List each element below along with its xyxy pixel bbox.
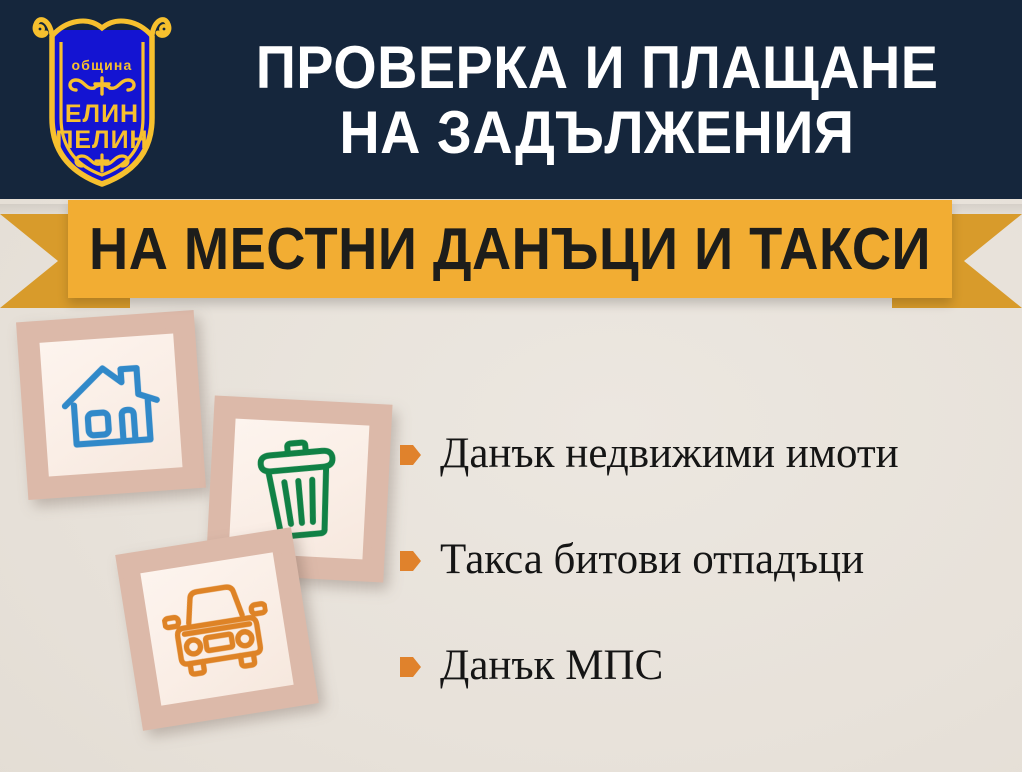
page-title-line-1: ПРОВЕРКА И ПЛАЩАНЕ: [256, 39, 939, 98]
list-item-label: Такса битови отпадъци: [440, 538, 864, 581]
arrow-bullet-icon: [400, 442, 422, 468]
svg-text:община: община: [71, 57, 132, 73]
house-icon: [56, 354, 166, 455]
list-item-label: Данък МПС: [440, 644, 663, 687]
svg-text:ПЕЛИН: ПЕЛИН: [55, 126, 148, 154]
municipality-logo: община ЕЛИН ПЕЛИН: [26, 8, 178, 190]
svg-text:ЕЛИН: ЕЛИН: [65, 100, 139, 128]
stamp-card-car: [115, 527, 319, 731]
ribbon-label: НА МЕСТНИ ДАНЪЦИ И ТАКСИ: [103, 200, 916, 298]
list-item[interactable]: Такса битови отпадъци: [400, 531, 1010, 587]
stamp-card-house: [16, 310, 206, 500]
car-icon: [157, 575, 276, 682]
poster-canvas: НА МЕСТНИ ДАНЪЦИ И ТАКСИ ПРОВЕРКА И ПЛАЩ…: [0, 0, 1022, 772]
stamp-inner-car: [140, 552, 293, 705]
page-title-line-2: НА ЗАДЪЛЖЕНИЯ: [339, 104, 854, 163]
tax-types-list: Данък недвижими имоти Такса битови отпад…: [400, 425, 1010, 693]
list-item[interactable]: Данък недвижими имоти: [400, 425, 1010, 481]
stamp-inner-house: [39, 333, 182, 476]
arrow-bullet-icon: [400, 654, 422, 680]
arrow-bullet-icon: [400, 548, 422, 574]
ribbon-band: НА МЕСТНИ ДАНЪЦИ И ТАКСИ: [68, 200, 952, 298]
page-title: ПРОВЕРКА И ПЛАЩАНЕ НА ЗАДЪЛЖЕНИЯ: [178, 16, 1016, 186]
trash-bin-icon: [250, 437, 347, 542]
ribbon-banner: НА МЕСТНИ ДАНЪЦИ И ТАКСИ: [0, 196, 1022, 308]
list-item[interactable]: Данък МПС: [400, 637, 1010, 693]
list-item-label: Данък недвижими имоти: [440, 432, 899, 475]
